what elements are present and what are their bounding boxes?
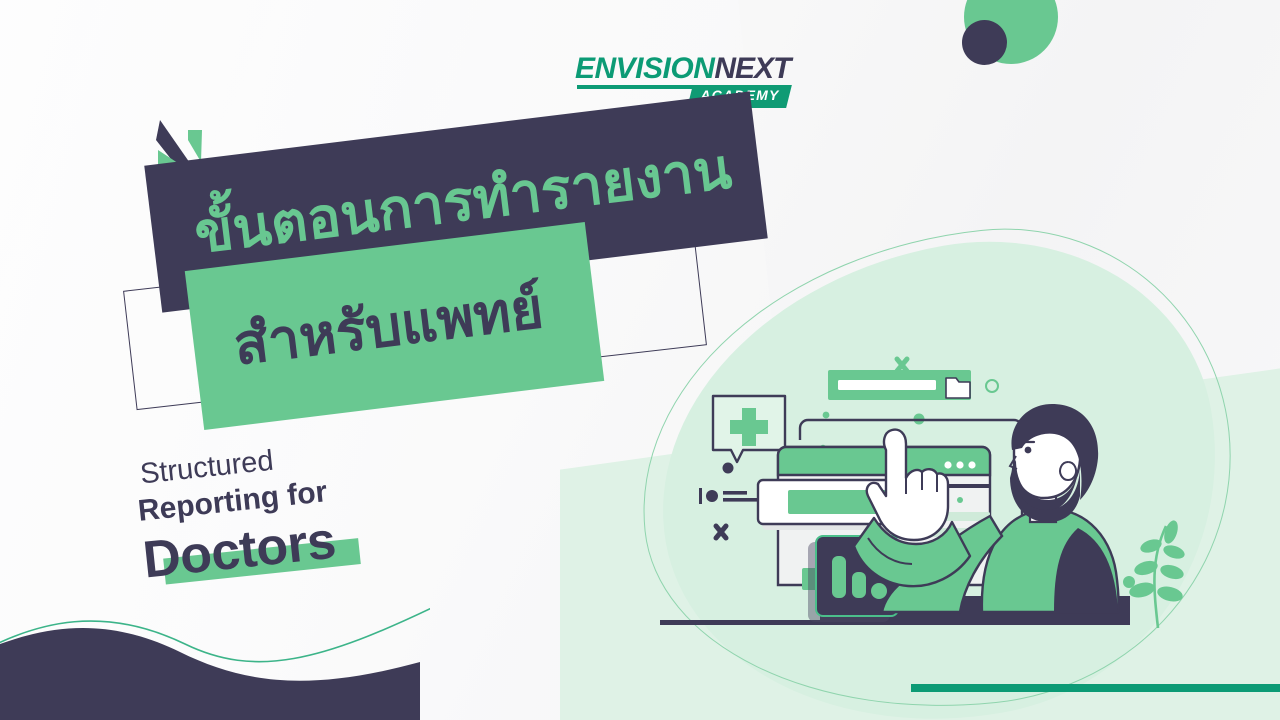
brand-logo-text: ENVISIONNEXT — [575, 52, 790, 86]
slide-canvas: ENVISIONNEXT ACADEMY ขั้นตอนการทำรายงาน … — [0, 0, 1280, 720]
medical-cross-speech-bubble-icon — [713, 396, 785, 462]
brand-logo-next: NEXT — [714, 52, 790, 85]
decoration-bar-teal — [911, 684, 1280, 692]
plant-branch-icon — [1123, 519, 1186, 628]
doctor-using-computer-illustration — [630, 320, 1250, 650]
search-bar-card — [828, 370, 971, 400]
decoration-circle-dark — [962, 20, 1007, 65]
brand-logo-envision: ENVISION — [575, 52, 714, 85]
title-line-2: สำหรับแพทย์ — [191, 277, 547, 381]
